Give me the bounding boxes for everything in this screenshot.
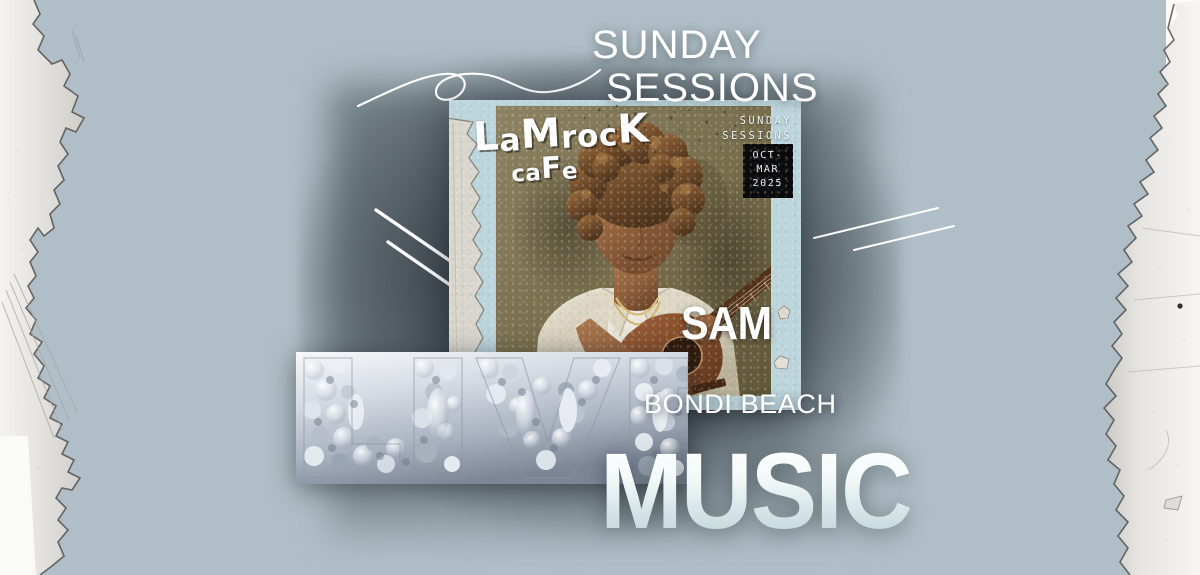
torn-paper-edge-right [1070,0,1200,575]
poster-torn-paper-strip [449,118,487,376]
diagonal-lines-right-decoration [812,192,954,252]
headline-music: MUSIC [600,446,911,537]
paper-fleck-bottom [773,355,791,376]
artist-photo [496,106,771,396]
event-poster-card[interactable]: LaMrocK caFe SUNDAY SESSIONS OCT- MAR 20… [449,100,801,410]
paper-fleck-top [776,305,792,326]
live-music-banner: LaMrocK caFe SUNDAY SESSIONS OCT- MAR 20… [0,0,1200,575]
headline-sunday-sessions: SUNDAY SESSIONS [592,24,819,110]
headline-sunday: SUNDAY [592,24,819,67]
torn-paper-edge-left [0,0,140,575]
